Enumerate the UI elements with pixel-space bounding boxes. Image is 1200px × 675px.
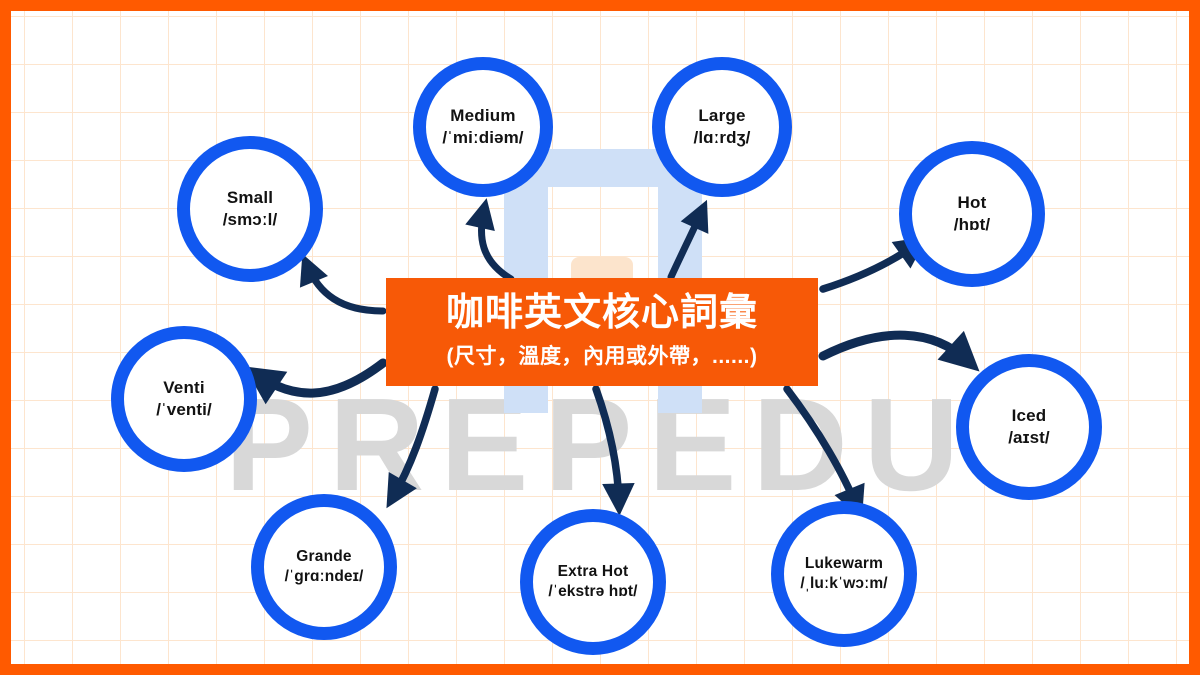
node-iced-ipa: /aɪst/: [1008, 427, 1050, 449]
node-lukewarm-word: Lukewarm: [805, 554, 883, 574]
arrow-to-small: [307, 265, 383, 311]
banner-title: 咖啡英文核心詞彙: [446, 294, 758, 334]
node-hot-ipa: /hɒt/: [954, 214, 990, 236]
node-medium-ipa: /ˈmiːdiəm/: [442, 127, 523, 149]
node-hot[interactable]: Hot /hɒt/: [899, 141, 1045, 287]
node-small-ipa: /smɔːl/: [223, 209, 278, 231]
node-lukewarm-ipa: /ˌluːkˈwɔːm/: [800, 574, 887, 594]
node-venti-word: Venti: [163, 377, 205, 399]
node-grande-word: Grande: [296, 547, 351, 567]
node-medium-word: Medium: [450, 105, 515, 127]
banner-subtitle: (尺寸，溫度，內用或外帶，......): [447, 340, 758, 370]
node-iced-word: Iced: [1012, 405, 1047, 427]
node-hot-word: Hot: [958, 192, 987, 214]
node-iced[interactable]: Iced /aɪst/: [956, 354, 1102, 500]
grid-background: PREPEDU: [11, 11, 1189, 664]
node-venti[interactable]: Venti /ˈventi/: [111, 326, 257, 472]
node-small-word: Small: [227, 187, 273, 209]
node-extra-hot[interactable]: Extra Hot /ˈekstrə hɒt/: [520, 509, 666, 655]
node-grande[interactable]: Grande /ˈgrɑːndeɪ/: [251, 494, 397, 640]
node-small[interactable]: Small /smɔːl/: [177, 136, 323, 282]
node-grande-ipa: /ˈgrɑːndeɪ/: [285, 567, 364, 587]
node-extra-hot-word: Extra Hot: [558, 562, 629, 582]
node-extra-hot-ipa: /ˈekstrə hɒt/: [548, 582, 637, 602]
arrow-to-iced: [823, 335, 968, 361]
center-banner: 咖啡英文核心詞彙 (尺寸，溫度，內用或外帶，......): [386, 278, 818, 386]
node-large-word: Large: [698, 105, 745, 127]
node-lukewarm[interactable]: Lukewarm /ˌluːkˈwɔːm/: [771, 501, 917, 647]
infographic-canvas: PREPEDU: [0, 0, 1200, 675]
node-venti-ipa: /ˈventi/: [156, 399, 212, 421]
node-medium[interactable]: Medium /ˈmiːdiəm/: [413, 57, 553, 197]
node-large[interactable]: Large /lɑːrdʒ/: [652, 57, 792, 197]
node-large-ipa: /lɑːrdʒ/: [694, 127, 751, 149]
arrow-to-hot: [823, 244, 917, 289]
